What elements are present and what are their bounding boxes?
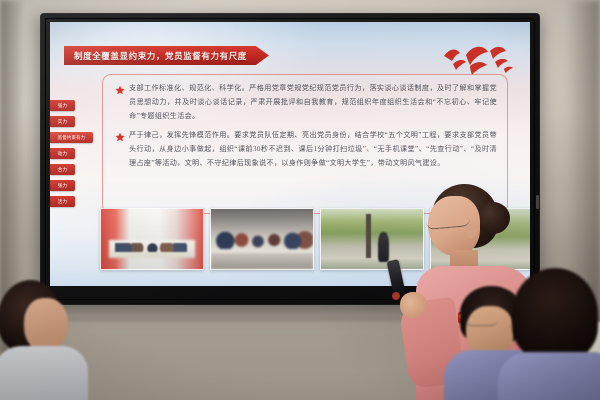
eyeglasses-icon — [464, 316, 498, 326]
page-title: 制度全覆盖显约束力，党员监督有力有尺度 — [74, 50, 247, 62]
photo-indoor-hall-activity — [210, 208, 314, 270]
slide-tab-6: 活力 — [50, 196, 75, 207]
slide-tab-5: 张力 — [50, 180, 75, 191]
red-star-icon — [115, 82, 125, 92]
slide-tab-4: 合力 — [50, 164, 75, 175]
slide-paragraph-text: 严于律己，发挥先锋模范作用。要求党员队伍定期、亮出党员身份，结合学校“五个文明”… — [129, 128, 497, 170]
audience-torso — [498, 352, 600, 400]
slide-tab-label: 活力 — [58, 199, 68, 205]
audience-member-right-back — [506, 268, 600, 400]
audience-hair — [512, 268, 598, 360]
slide-tab-label: 实力 — [58, 119, 68, 125]
slide-tab-label: 合力 — [58, 167, 68, 173]
photo-classroom-meeting — [100, 208, 204, 270]
slide-tab-label: 监督约束有力 — [58, 135, 86, 141]
slide-paragraph-1: 支部工作标准化、规范化、科学化。严格用党章党规党纪规范党员行为，落实谈心谈话制度… — [111, 81, 497, 123]
slide-tab-label: 动力 — [58, 151, 68, 157]
slide-tab-label: 强力 — [58, 103, 68, 109]
red-star-icon — [115, 129, 125, 139]
slide-tab-label: 张力 — [58, 183, 68, 189]
slide-tab-0: 强力 — [50, 100, 75, 111]
slide-paragraph-2: 严于律己，发挥先锋模范作用。要求党员队伍定期、亮出党员身份，结合学校“五个文明”… — [111, 128, 497, 170]
presenter-hair-bun — [476, 202, 510, 234]
audience-torso — [0, 346, 88, 400]
presentation-room-scene: 制度全覆盖显约束力，党员监督有力有尺度 — [0, 0, 600, 400]
presenter-hand — [400, 292, 426, 318]
slide-tab-1: 实力 — [50, 116, 75, 127]
slide-tab-2-active: 监督约束有力 — [50, 132, 93, 143]
presenter-ear — [466, 224, 477, 238]
remote-indicator-light — [391, 291, 400, 300]
slide-title-banner: 制度全覆盖显约束力，党员监督有力有尺度 — [64, 46, 269, 65]
audience-member-left — [0, 280, 78, 400]
slide-tab-3: 动力 — [50, 148, 75, 159]
slide-paragraph-text: 支部工作标准化、规范化、科学化。严格用党章党规党纪规范党员行为，落实谈心谈话制度… — [129, 81, 497, 123]
audience-face — [24, 298, 68, 352]
slide-side-tabs: 强力 实力 监督约束有力 动力 合力 张力 活力 — [50, 100, 93, 207]
